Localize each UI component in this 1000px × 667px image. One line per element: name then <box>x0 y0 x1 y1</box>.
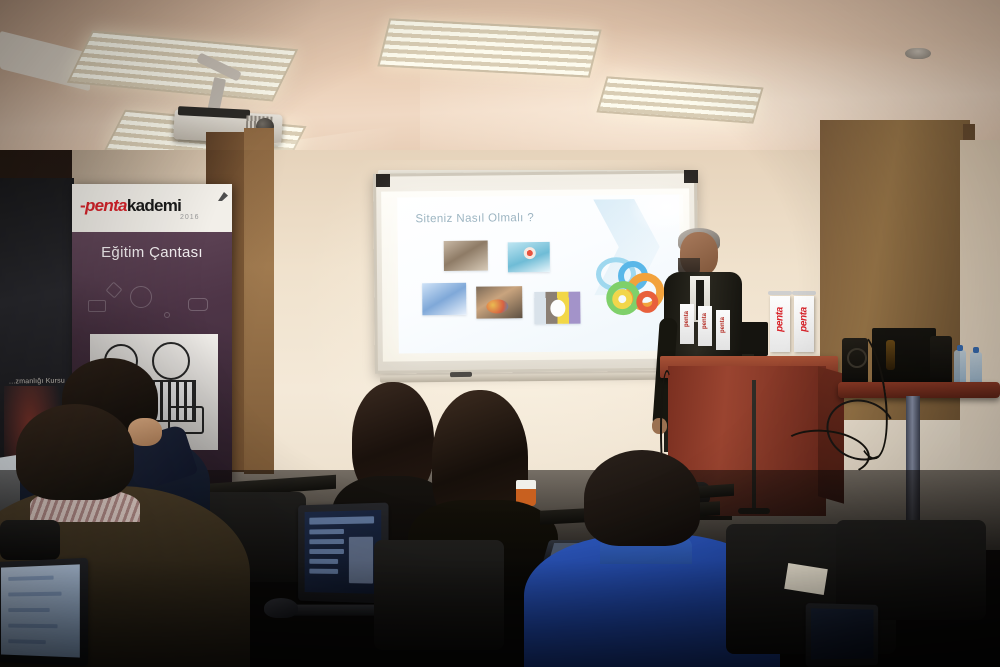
slide-thumbnail-group <box>422 239 663 346</box>
banner-left-heading: ...zmanlığı Kursu <box>0 377 74 385</box>
penta-flag-left: penta <box>770 296 790 352</box>
laptop-center-screen[interactable] <box>305 510 382 594</box>
penta-flag-left-text: penta <box>775 294 786 346</box>
slide-thumb-speedometer <box>508 242 550 272</box>
satellite-speaker-right <box>930 336 952 384</box>
chair-center <box>374 540 504 650</box>
lapel-flag-3: penta <box>716 310 730 350</box>
laptop-right-lid <box>806 603 878 667</box>
whiteboard-corner-top-left <box>376 174 390 187</box>
laptop-left-screen[interactable] <box>1 564 80 657</box>
penta-flag-right: penta <box>794 296 814 352</box>
chair-foreground-left <box>0 520 60 560</box>
dark-bottle <box>886 340 895 370</box>
lapel-flag-1: penta <box>680 304 694 344</box>
whiteboard-corner-top-right <box>684 170 698 183</box>
slide-thumb-search-engines <box>534 292 580 324</box>
whiteboard-marker <box>450 372 472 377</box>
audience-man-brown-hair <box>16 404 134 500</box>
laptop-right-screen[interactable] <box>811 608 874 659</box>
slide-thumb-vehicle <box>422 283 466 315</box>
right-wall <box>960 140 1000 470</box>
lapel-flag-2: penta <box>698 306 712 346</box>
slide-thumb-balls <box>476 286 522 318</box>
penta-flag-right-text: penta <box>799 294 810 346</box>
audience-man-suit-hand <box>128 418 162 446</box>
laptop-center-side-panel <box>349 537 373 584</box>
slide-thumb-storefront <box>444 241 488 271</box>
computer-mouse[interactable] <box>264 598 298 618</box>
water-bottle-2 <box>970 352 982 386</box>
slide-projector-hotspot <box>627 194 683 235</box>
water-bottle-1 <box>954 350 966 384</box>
laptop-left-lid <box>0 558 88 666</box>
smoke-detector-icon <box>905 48 931 59</box>
projected-slide: Siteniz Nasıl Olmalı ? <box>397 195 681 354</box>
audience-man-blue-hair <box>584 450 700 546</box>
seminar-room-photo: Siteniz Nasıl Olmalı ? ...zmanlığı Kursu… <box>0 0 1000 667</box>
